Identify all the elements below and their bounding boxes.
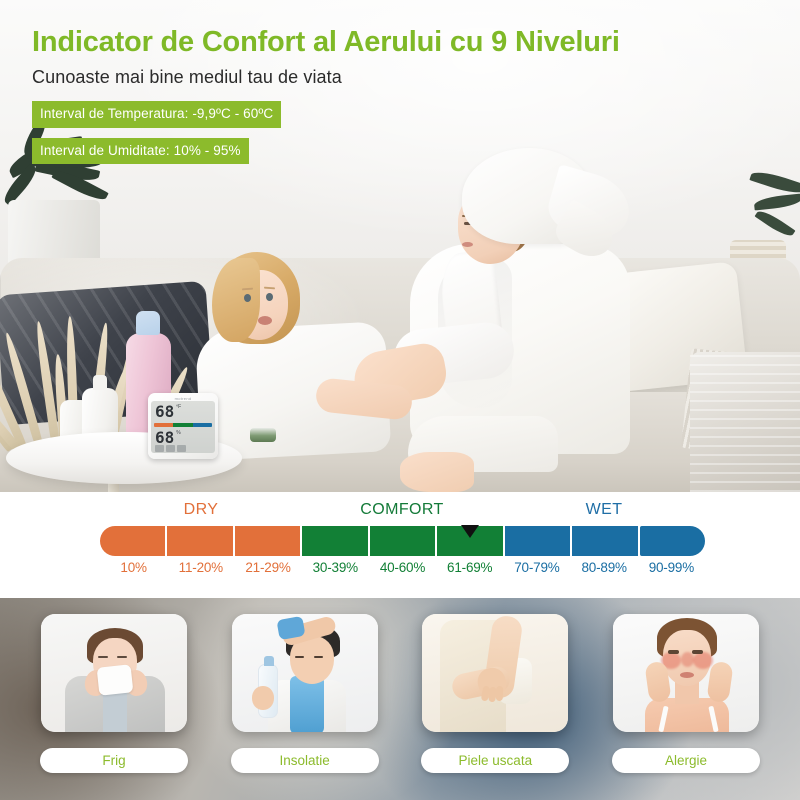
device-humidity-value: 68 — [155, 430, 174, 446]
device-readout-block — [177, 445, 186, 452]
humidity-segment-21-to-29 — [235, 526, 302, 556]
child-eye — [244, 294, 251, 302]
device-lcd-screen: 68 ºF 68 % — [151, 401, 215, 453]
product-infographic-page: motrend 68 ºF 68 % — [0, 0, 800, 800]
humidity-range-label-row: 10%11-20%21-29%30-39%40-60%61-69%70-79%8… — [100, 560, 705, 582]
down-triangle-marker-icon — [461, 525, 479, 538]
humidity-range-label: 90-99% — [638, 560, 705, 582]
humidity-segment-bar — [100, 526, 705, 556]
symptom-card-insolatie[interactable]: Insolatie — [229, 614, 381, 800]
device-readout-block — [166, 445, 175, 452]
woman-lips — [462, 242, 473, 247]
symptom-card-alergie[interactable]: Alergie — [610, 614, 762, 800]
child-eye — [266, 293, 273, 301]
device-secondary-readouts — [155, 445, 186, 452]
humidity-range-badge-row: Interval de Umiditate: 10% - 95% — [32, 128, 620, 165]
humidity-segment-40-to-60 — [370, 526, 437, 556]
device-humidity-unit: % — [176, 430, 180, 436]
humidity-segment-80-to-89 — [572, 526, 639, 556]
allergy-red-face-icon — [613, 614, 759, 732]
humidity-range-label: 10% — [100, 560, 167, 582]
plant-leaf-icon — [749, 168, 800, 198]
green-jar-on-sofa — [250, 428, 276, 442]
zone-label-comfort: COMFORT — [360, 501, 443, 519]
child-hair-front — [212, 258, 260, 342]
humidity-range-label: 61-69% — [436, 560, 503, 582]
humidity-segment-61-to-69 — [437, 526, 504, 556]
humidity-range-label: 30-39% — [302, 560, 369, 582]
humidity-segment-11-to-20 — [167, 526, 234, 556]
humidity-segment-10 — [100, 526, 167, 556]
symptom-card-label: Alergie — [612, 748, 760, 773]
temperature-range-badge: Interval de Temperatura: -9,9ºC - 60ºC — [32, 101, 281, 128]
dry-skin-scratching-arm-icon — [422, 614, 568, 732]
symptom-card-label: Piele uscata — [421, 748, 569, 773]
device-temperature-unit: ºF — [176, 404, 181, 410]
zone-label-wet: WET — [586, 501, 623, 519]
symptom-cards-row: Frig — [0, 598, 800, 800]
humidity-range-label: 11-20% — [167, 560, 234, 582]
device-readout-block — [155, 445, 164, 452]
woman-in-bathrobe — [400, 148, 730, 492]
humidity-range-badge: Interval de Umiditate: 10% - 95% — [32, 138, 249, 165]
plant-leaf-icon — [754, 194, 800, 211]
humidity-range-label: 40-60% — [369, 560, 436, 582]
heatstroke-person-icon — [232, 614, 378, 732]
humidity-segment-90-to-99 — [640, 526, 705, 556]
zone-label-dry: DRY — [184, 501, 219, 519]
symptom-card-frig[interactable]: Frig — [38, 614, 190, 800]
header-text-block: Indicator de Confort al Aerului cu 9 Niv… — [32, 24, 620, 164]
humidity-segment-70-to-79 — [505, 526, 572, 556]
comfort-indicator-panel: DRY COMFORT WET 10%11-20%21-29%30-39%40-… — [0, 492, 800, 598]
page-subtitle: Cunoaste mai bine mediul tau de viata — [32, 65, 620, 89]
humidity-range-label: 21-29% — [234, 560, 301, 582]
symptom-card-label: Insolatie — [231, 748, 379, 773]
child-mouth — [258, 316, 272, 325]
temperature-range-badge-row: Interval de Temperatura: -9,9ºC - 60ºC — [32, 89, 620, 128]
humidity-segment-30-to-39 — [302, 526, 369, 556]
symptom-card-label: Frig — [40, 748, 188, 773]
thermo-hygrometer-device: motrend 68 ºF 68 % — [148, 393, 218, 459]
humidity-range-label: 70-79% — [503, 560, 570, 582]
device-temperature-value: 68 — [155, 404, 174, 420]
page-title: Indicator de Confort al Aerului cu 9 Niv… — [32, 24, 620, 60]
zone-label-row: DRY COMFORT WET — [100, 501, 705, 521]
device-temperature-row: 68 ºF — [151, 401, 215, 423]
cold-sneezing-person-icon — [41, 614, 187, 732]
symptom-cards-section: Frig — [0, 598, 800, 800]
plant-leaf-icon — [755, 207, 796, 240]
symptom-card-piele-uscata[interactable]: Piele uscata — [419, 614, 571, 800]
humidity-range-label: 80-89% — [571, 560, 638, 582]
